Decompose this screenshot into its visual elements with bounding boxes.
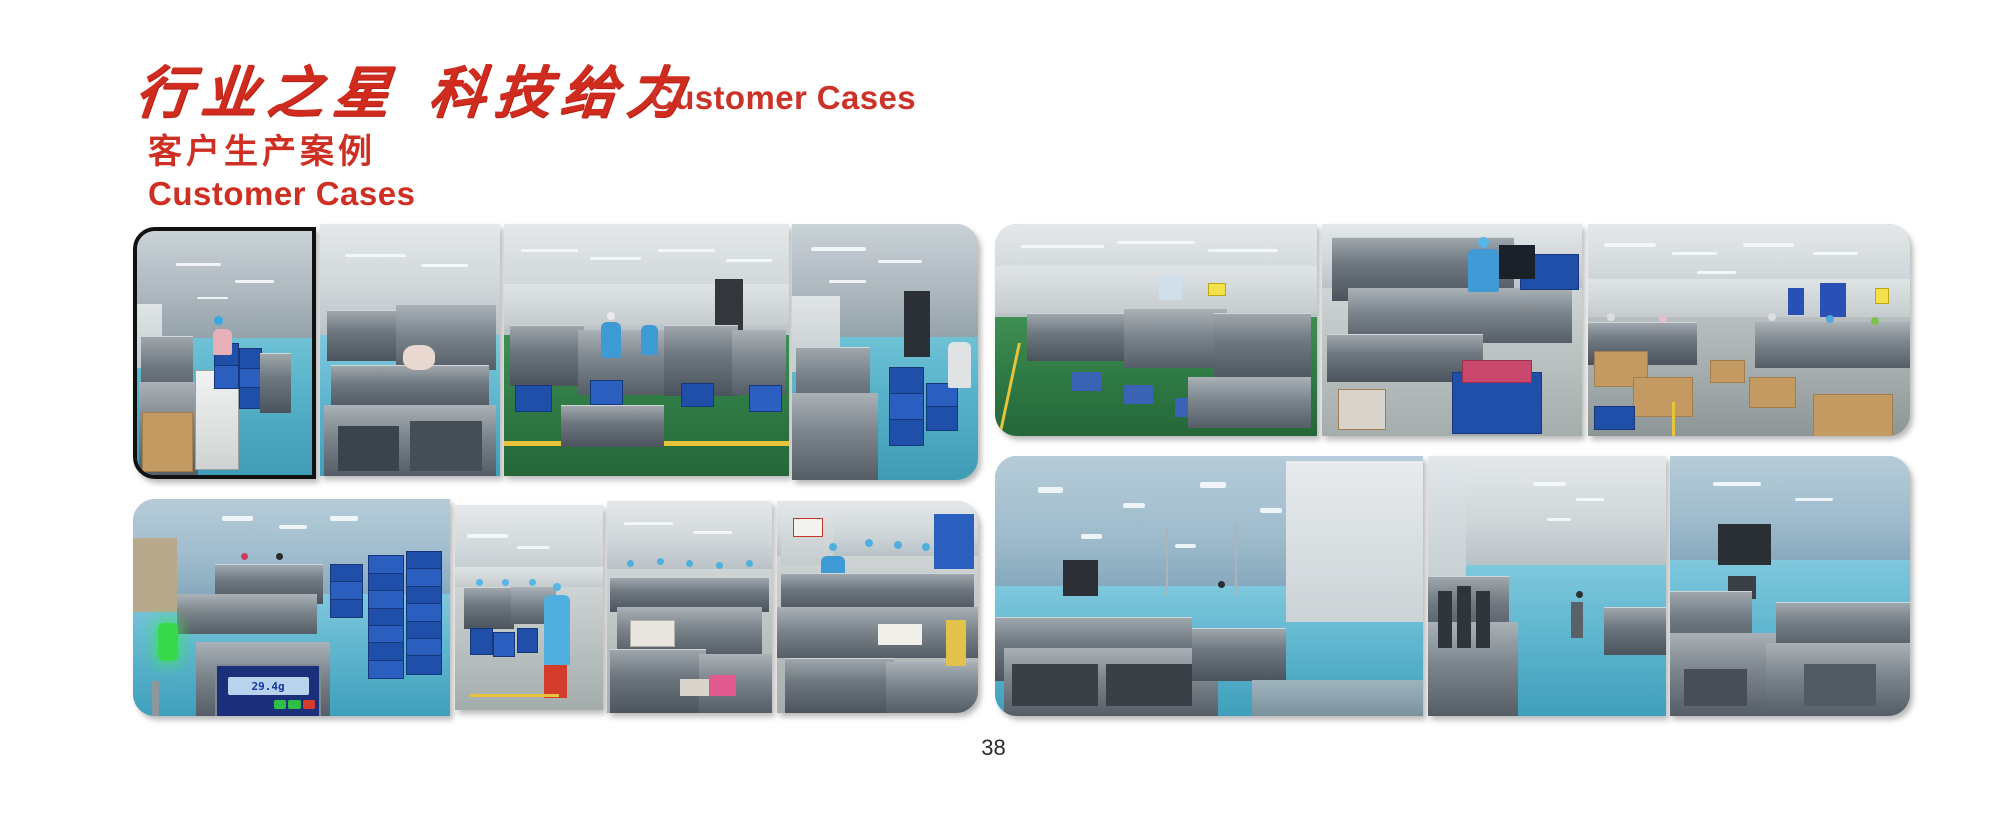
scene-overlay: [137, 231, 312, 475]
scene-overlay: [792, 224, 978, 480]
title-en-bottom: Customer Cases: [148, 175, 415, 213]
scene-overlay: [995, 224, 1317, 436]
scale-display-panel: 29.4g: [215, 664, 320, 716]
photo-9[interactable]: [455, 505, 603, 710]
scene-overlay: [777, 501, 978, 713]
photo-7[interactable]: [1588, 224, 1910, 436]
scale-reading: 29.4g: [230, 678, 307, 694]
scene-overlay: [504, 224, 789, 476]
title-en-top: Customer Cases: [650, 79, 916, 117]
scene-overlay: 29.4g: [133, 499, 450, 716]
scene-overlay: [1588, 224, 1910, 436]
page-number-value: 38: [981, 735, 1005, 760]
photo-11[interactable]: [777, 501, 978, 713]
scene-overlay: [1322, 224, 1582, 436]
scene-overlay: [455, 505, 603, 710]
photo-10[interactable]: [607, 501, 772, 713]
scene-overlay: [1670, 456, 1910, 716]
scene-overlay: [320, 224, 500, 476]
subtitle-cn: 客户生产案例: [148, 124, 376, 173]
slide-header: 行业之星 科技给力 Customer Cases 客户生产案例 Customer…: [0, 0, 2009, 210]
tower-light-icon: [158, 623, 178, 661]
photo-4[interactable]: [792, 224, 978, 480]
photo-14[interactable]: [1670, 456, 1910, 716]
photo-1[interactable]: [133, 227, 316, 479]
scene-overlay: [1428, 456, 1666, 716]
page-number: 38: [0, 735, 2009, 761]
photo-13[interactable]: [1428, 456, 1666, 716]
photo-5[interactable]: [995, 224, 1317, 436]
photo-8[interactable]: 29.4g: [133, 499, 450, 716]
photo-3[interactable]: [504, 224, 789, 476]
scene-overlay: [995, 456, 1423, 716]
photo-2[interactable]: [320, 224, 500, 476]
scene-overlay: [607, 501, 772, 713]
slide-root: 行业之星 科技给力 Customer Cases 客户生产案例 Customer…: [0, 0, 2009, 838]
photo-12[interactable]: [995, 456, 1423, 716]
calligraphy-heading: 行业之星 科技给力: [132, 48, 698, 129]
photo-6[interactable]: [1322, 224, 1582, 436]
